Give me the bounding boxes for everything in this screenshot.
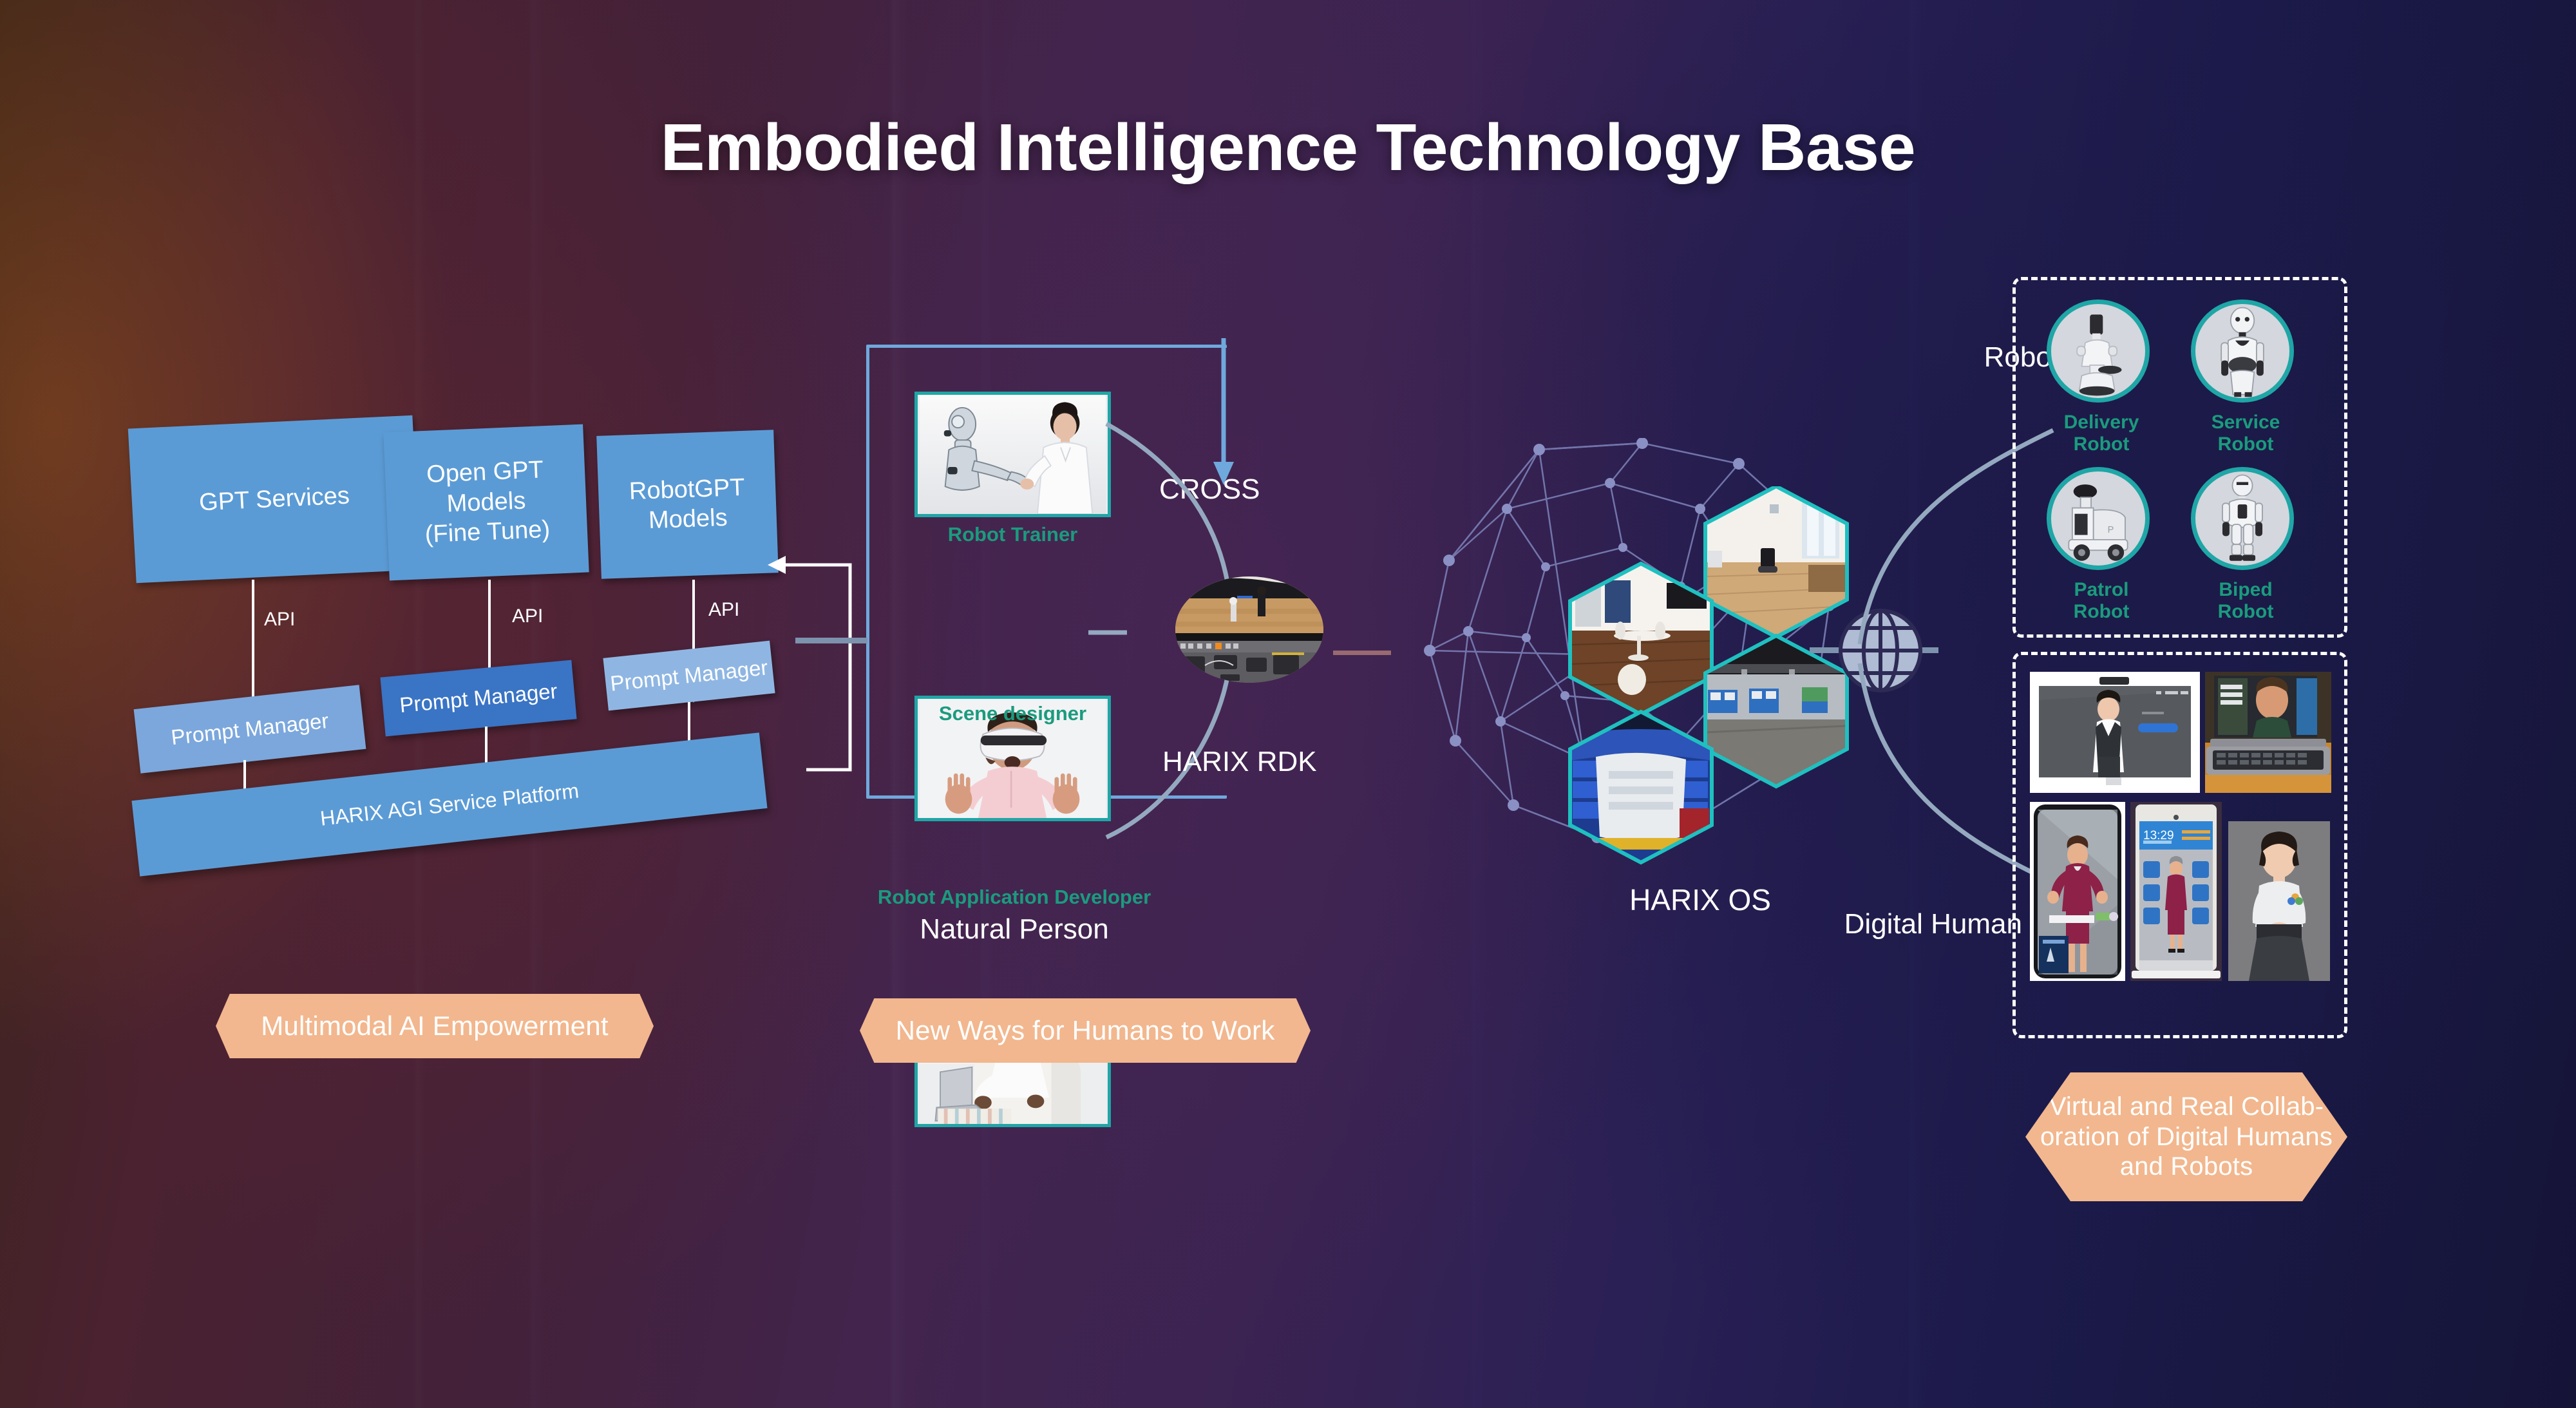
digital-human-tile-phone[interactable] xyxy=(2030,802,2125,981)
caption-scene-designer: Scene designer xyxy=(898,702,1127,725)
banner-multimodal-ai[interactable]: Multimodal AI Empowerment xyxy=(216,994,654,1058)
api-label-1: API xyxy=(264,609,295,631)
robot-item-service[interactable]: Service Robot xyxy=(2191,300,2300,455)
service-robot-label: Service Robot xyxy=(2191,412,2300,455)
digital-human-label: Digital Human xyxy=(1765,908,2022,940)
biped-robot-icon xyxy=(2191,467,2294,570)
robots-panel: Delivery Robot xyxy=(2012,277,2347,638)
banner-new-ways[interactable]: New Ways for Humans to Work xyxy=(860,998,1311,1063)
biped-robot-label: Biped Robot xyxy=(2191,579,2300,623)
card-robot-trainer[interactable] xyxy=(914,392,1111,517)
service-robot-icon xyxy=(2191,300,2294,403)
harix-rdk-label: HARIX RDK xyxy=(1162,746,1317,778)
feedback-loop-arrow xyxy=(747,551,876,808)
robot-item-biped[interactable]: Biped Robot xyxy=(2191,467,2300,623)
bracket-stub-left xyxy=(795,638,867,643)
robotgpt-models-label: RobotGPT Models xyxy=(629,473,746,537)
gpt-services-label: GPT Services xyxy=(198,480,350,517)
caption-robot-trainer: Robot Trainer xyxy=(898,523,1127,546)
page-title: Embodied Intelligence Technology Base xyxy=(0,109,2576,186)
patrol-robot-icon: P xyxy=(2047,467,2150,570)
harix-rdk-thumbnail[interactable] xyxy=(1175,576,1323,683)
slide-canvas: Embodied Intelligence Technology Base GP… xyxy=(0,0,2576,1408)
digital-human-tile-screen[interactable] xyxy=(2030,672,2200,793)
banner-virtual-real-collab[interactable]: Virtual and Real Collab- oration of Digi… xyxy=(2025,1072,2347,1201)
digital-human-panel: 13:29 xyxy=(2012,652,2347,1038)
svg-text:P: P xyxy=(2108,525,2114,535)
prompt-manager-2[interactable]: Prompt Manager xyxy=(380,660,576,737)
open-gpt-models-label: Open GPT Models (Fine Tune) xyxy=(422,455,551,549)
delivery-robot-label: Delivery Robot xyxy=(2047,412,2156,455)
api-label-3: API xyxy=(708,599,739,621)
natural-person-label: Natural Person xyxy=(876,913,1153,946)
open-gpt-models-box[interactable]: Open GPT Models (Fine Tune) xyxy=(383,424,589,581)
digital-human-tile-laptop[interactable] xyxy=(2205,672,2331,793)
patrol-robot-label: Patrol Robot xyxy=(2047,579,2156,623)
delivery-robot-icon xyxy=(2047,300,2150,403)
digital-human-tile-kiosk[interactable]: 13:29 xyxy=(2130,802,2222,981)
robot-item-patrol[interactable]: P Patrol Robot xyxy=(2047,467,2156,623)
gpt-services-box[interactable]: GPT Services xyxy=(128,415,421,583)
svg-text:13:29: 13:29 xyxy=(2143,829,2174,842)
api-label-2: API xyxy=(512,605,543,627)
robot-item-delivery[interactable]: Delivery Robot xyxy=(2047,300,2156,455)
digital-human-tile-casual[interactable] xyxy=(2228,821,2330,981)
